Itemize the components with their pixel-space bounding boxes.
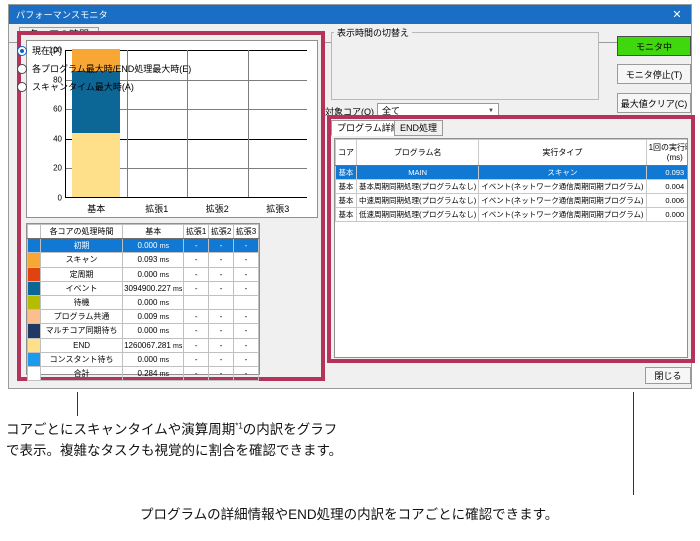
radio-option-current[interactable]: 現在(P): [17, 44, 62, 57]
column-header-exec-type: 実行タイプ: [479, 140, 646, 166]
table-row[interactable]: 基本中速周期同期処理(プログラムなし)イベント(ネットワーク通信周期同期プログラ…: [336, 194, 689, 208]
radio-icon-scantime-max[interactable]: [17, 82, 27, 92]
radio-label-scantime-max: スキャンタイム最大時(A): [32, 80, 134, 93]
callout-line-right: [633, 392, 634, 495]
caption-left-text1: コアごとにスキャンタイムや演算周期: [6, 422, 235, 437]
cell-ext2: [209, 295, 234, 309]
cell-base-time: 0.093 ms: [123, 253, 184, 267]
cell-base-time: 0.000 ms: [123, 352, 184, 366]
close-icon[interactable]: ✕: [663, 5, 691, 24]
cell-core: 基本: [336, 208, 357, 222]
color-swatch: [28, 267, 41, 281]
clear-max-value-button[interactable]: 最大値クリア(C): [617, 93, 691, 113]
program-detail-tab-strip: プログラム詳細 END処理: [331, 119, 691, 137]
cell-ext2: -: [209, 324, 234, 338]
cell-ext1: -: [184, 366, 209, 380]
x-axis-label: 拡張3: [266, 202, 289, 215]
color-swatch: [28, 281, 41, 295]
program-detail-panel: プログラム詳細 END処理 コア プログラム名 実行タイプ 1回の実行時間 (m…: [327, 115, 695, 363]
column-header-core: コア: [336, 140, 357, 166]
cell-ext3: -: [234, 253, 259, 267]
cell-base-time: 0.000 ms: [123, 324, 184, 338]
table-row[interactable]: 初期0.000 ms---: [28, 239, 259, 253]
cell-base-time: 0.000 ms: [123, 295, 184, 309]
window-title: パフォーマンスモニタ: [16, 8, 663, 21]
table-row[interactable]: 合計0.284 ms---: [28, 366, 259, 380]
cell-ext3: -: [234, 239, 259, 253]
close-button[interactable]: 閉じる: [645, 367, 691, 384]
radio-option-scantime-max[interactable]: スキャンタイム最大時(A): [17, 80, 134, 93]
column-header-base: 基本: [123, 225, 184, 239]
cell-exec-type: イベント(ネットワーク通信周期同期プログラム): [479, 180, 646, 194]
color-swatch: [28, 310, 41, 324]
color-swatch: [28, 295, 41, 309]
table-row[interactable]: 基本低速周期同期処理(プログラムなし)イベント(ネットワーク通信周期同期プログラ…: [336, 208, 689, 222]
radio-label-current: 現在(P): [32, 44, 62, 57]
radio-label-program-max: 各プログラム最大時/END処理最大時(E): [32, 62, 191, 75]
caption-left-footnote: *1: [235, 422, 243, 431]
cell-ext1: -: [184, 281, 209, 295]
cell-ext2: -: [209, 352, 234, 366]
cell-exec-type: イベント(ネットワーク通信周期同期プログラム): [479, 194, 646, 208]
y-axis-tick: 20: [53, 164, 62, 173]
cell-base-time: 0.284 ms: [123, 366, 184, 380]
color-swatch: [28, 352, 41, 366]
cell-ext1: -: [184, 352, 209, 366]
core-processing-time-table[interactable]: 各コアの処理時間 基本 拡張1 拡張2 拡張3 初期0.000 ms---スキャ…: [26, 223, 260, 375]
cell-process-name: 初期: [40, 239, 122, 253]
program-detail-table[interactable]: コア プログラム名 実行タイプ 1回の実行時間 (ms) 基本MAINスキャン0…: [334, 138, 688, 358]
radio-option-program-max[interactable]: 各プログラム最大時/END処理最大時(E): [17, 62, 191, 75]
cell-program-name: 基本周期同期処理(プログラムなし): [357, 180, 479, 194]
column-header-name: 各コアの処理時間: [40, 225, 122, 239]
cell-ext1: -: [184, 253, 209, 267]
cell-process-name: 定周期: [40, 267, 122, 281]
exec-time-line1: 1回の実行時間: [649, 143, 688, 152]
radio-icon-program-max[interactable]: [17, 64, 27, 74]
cell-ext3: [234, 295, 259, 309]
table-row[interactable]: プログラム共通0.009 ms---: [28, 310, 259, 324]
cell-base-time: 1260067.281 ms: [123, 338, 184, 352]
table-row[interactable]: 基本基本周期同期処理(プログラムなし)イベント(ネットワーク通信周期同期プログラ…: [336, 180, 689, 194]
cell-ext1: -: [184, 267, 209, 281]
monitoring-status-button[interactable]: モニタ中: [617, 36, 691, 56]
table-row[interactable]: 定周期0.000 ms---: [28, 267, 259, 281]
y-axis-tick: 60: [53, 105, 62, 114]
column-header-program: プログラム名: [357, 140, 479, 166]
color-swatch: [28, 253, 41, 267]
cell-program-name: MAIN: [357, 166, 479, 180]
x-axis-label: 拡張1: [145, 202, 168, 215]
cell-program-name: 中速周期同期処理(プログラムなし): [357, 194, 479, 208]
cell-ext2: -: [209, 366, 234, 380]
cell-process-name: 待機: [40, 295, 122, 309]
caption-right-text: プログラムの詳細情報やEND処理の内訳をコアごとに確認できます。: [140, 507, 558, 522]
cell-core: 基本: [336, 166, 357, 180]
display-time-switch-legend: 表示時間の切替え: [334, 26, 412, 39]
tab-end-process[interactable]: END処理: [394, 120, 443, 136]
cell-base-time: 3094900.227 ms: [123, 281, 184, 295]
caption-right: プログラムの詳細情報やEND処理の内訳をコアごとに確認できます。: [140, 505, 700, 526]
table-row[interactable]: マルチコア同期待ち0.000 ms---: [28, 324, 259, 338]
cell-ext3: -: [234, 281, 259, 295]
chart-column-separator: [248, 50, 249, 197]
cell-exec-time: 0.004: [646, 180, 688, 194]
cell-ext1: [184, 295, 209, 309]
cell-base-time: 0.009 ms: [123, 310, 184, 324]
column-header-ext2: 拡張2: [209, 225, 234, 239]
cell-ext3: -: [234, 324, 259, 338]
table-header-row: 各コアの処理時間 基本 拡張1 拡張2 拡張3: [28, 225, 259, 239]
cell-process-name: 合計: [40, 366, 122, 380]
cell-ext1: -: [184, 338, 209, 352]
cell-core: 基本: [336, 194, 357, 208]
caption-left: コアごとにスキャンタイムや演算周期*1の内訳をグラフ で表示。複雑なタスクも視覚…: [6, 420, 446, 462]
cell-process-name: マルチコア同期待ち: [40, 324, 122, 338]
x-axis-label: 基本: [87, 202, 105, 215]
table-row[interactable]: イベント3094900.227 ms---: [28, 281, 259, 295]
callout-line-left: [77, 392, 78, 416]
table-row[interactable]: 基本MAINスキャン0.093: [336, 166, 689, 180]
cell-ext2: -: [209, 253, 234, 267]
color-swatch: [28, 338, 41, 352]
cell-process-name: イベント: [40, 281, 122, 295]
cell-core: 基本: [336, 180, 357, 194]
stop-monitor-button[interactable]: モニタ停止(T): [617, 64, 691, 84]
table-row[interactable]: コンスタント待ち0.000 ms---: [28, 352, 259, 366]
cell-ext2: -: [209, 267, 234, 281]
column-header-ext3: 拡張3: [234, 225, 259, 239]
performance-monitor-window: パフォーマンスモニタ ✕ 各コアの時間 020406080100基本拡張1拡張2…: [8, 4, 692, 389]
cell-ext2: -: [209, 310, 234, 324]
column-header-exec-time: 1回の実行時間 (ms): [646, 140, 688, 166]
cell-ext3: -: [234, 366, 259, 380]
caption-left-text2: で表示。複雑なタスクも視覚的に割合を確認できます。: [6, 443, 342, 458]
cell-ext3: -: [234, 352, 259, 366]
cell-base-time: 0.000 ms: [123, 239, 184, 253]
cell-ext1: -: [184, 239, 209, 253]
cell-ext3: -: [234, 267, 259, 281]
chart-bar-segment: [72, 133, 120, 197]
cell-base-time: 0.000 ms: [123, 267, 184, 281]
table-row[interactable]: END1260067.281 ms---: [28, 338, 259, 352]
table-row[interactable]: スキャン0.093 ms---: [28, 253, 259, 267]
cell-process-name: スキャン: [40, 253, 122, 267]
color-swatch: [28, 366, 41, 380]
cell-process-name: プログラム共通: [40, 310, 122, 324]
column-header-swatch: [28, 225, 41, 239]
cell-exec-type: スキャン: [479, 166, 646, 180]
cell-exec-type: イベント(ネットワーク通信周期同期プログラム): [479, 208, 646, 222]
cell-ext2: -: [209, 239, 234, 253]
cell-exec-time: 0.093: [646, 166, 688, 180]
title-bar: パフォーマンスモニタ ✕: [9, 5, 691, 24]
caption-left-text1b: の内訳をグラフ: [243, 422, 338, 437]
cell-exec-time: 0.006: [646, 194, 688, 208]
x-axis-label: 拡張2: [206, 202, 229, 215]
y-axis-tick: 40: [53, 134, 62, 143]
chart-bar: [193, 50, 241, 197]
table-header-row: コア プログラム名 実行タイプ 1回の実行時間 (ms): [336, 140, 689, 166]
color-swatch: [28, 239, 41, 253]
radio-icon-current[interactable]: [17, 46, 27, 56]
cell-ext3: -: [234, 310, 259, 324]
exec-time-line2: (ms): [649, 153, 688, 162]
cell-ext2: -: [209, 281, 234, 295]
cell-exec-time: 0.000: [646, 208, 688, 222]
display-time-switch-group: [331, 32, 599, 100]
cell-ext2: -: [209, 338, 234, 352]
table-row[interactable]: 待機0.000 ms: [28, 295, 259, 309]
cell-process-name: コンスタント待ち: [40, 352, 122, 366]
cell-ext1: -: [184, 324, 209, 338]
chart-bar: [254, 50, 302, 197]
cell-program-name: 低速周期同期処理(プログラムなし): [357, 208, 479, 222]
cell-ext3: -: [234, 338, 259, 352]
cell-process-name: END: [40, 338, 122, 352]
color-swatch: [28, 324, 41, 338]
chevron-down-icon[interactable]: ▼: [484, 108, 498, 114]
cell-ext1: -: [184, 310, 209, 324]
y-axis-tick: 0: [58, 194, 62, 203]
column-header-ext1: 拡張1: [184, 225, 209, 239]
